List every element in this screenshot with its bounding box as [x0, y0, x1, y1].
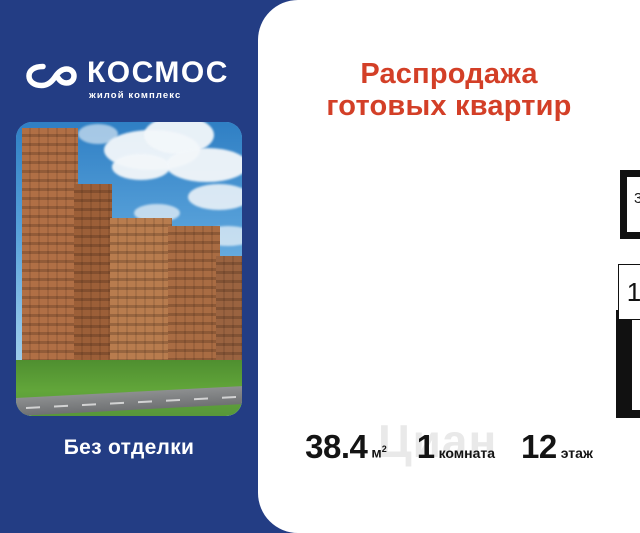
brand-logo: КОСМОС жилой комплекс: [26, 58, 236, 110]
title-line-2: готовых квартир: [258, 90, 640, 122]
summary-stats: 38.4 м2 1 комната 12 этаж: [258, 428, 640, 474]
floor-plan: 3.8 3.9 3.9 9.3 16.1 2.7 (1.35) 1 16.1 3…: [610, 146, 640, 424]
cloud: [166, 148, 242, 182]
infinity-icon: [26, 60, 78, 92]
plan-info-box: 1 16.1 37.0 38.35: [618, 264, 640, 320]
info-rooms-count: 1: [619, 265, 640, 319]
stat-floor-value: 12: [521, 428, 557, 466]
finish-type-caption: Без отделки: [0, 436, 258, 460]
title-line-1: Распродажа: [258, 58, 640, 90]
stat-area-unit: м2: [371, 444, 386, 461]
logo-name: КОСМОС: [87, 58, 229, 88]
building-block: [168, 226, 220, 376]
stat-area: 38.4 м2: [305, 428, 387, 466]
logo-subtitle: жилой комплекс: [89, 90, 181, 102]
building-block: [110, 218, 172, 376]
stat-rooms: 1 комната: [417, 428, 495, 466]
right-white-panel: Распродажа готовых квартир: [258, 0, 640, 533]
stat-floor-unit: этаж: [561, 445, 593, 461]
page-title: Распродажа готовых квартир: [258, 58, 640, 122]
stat-rooms-unit: комната: [439, 445, 495, 461]
building-tower: [22, 128, 78, 376]
stat-floor: 12 этаж: [521, 428, 593, 466]
cloud: [112, 154, 170, 180]
building-photo: [16, 122, 242, 416]
building-block: [216, 256, 242, 376]
building-tower: [74, 184, 112, 376]
left-blue-panel: КОСМОС жилой комплекс Без отделки: [0, 0, 258, 533]
stat-area-value: 38.4: [305, 428, 367, 466]
card-root: КОСМОС жилой комплекс Без отделки: [0, 0, 640, 533]
stat-rooms-value: 1: [417, 428, 435, 466]
cloud: [188, 184, 242, 210]
label-hall-closet: 3.8: [634, 190, 640, 207]
